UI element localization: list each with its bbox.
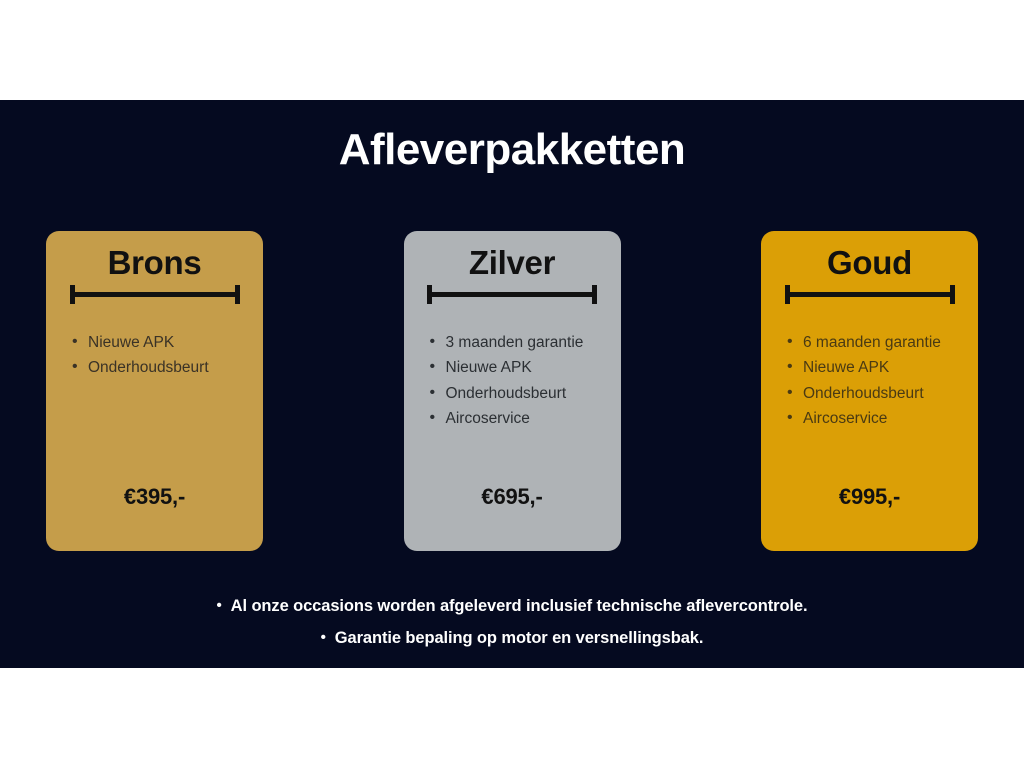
package-title-zilver: Zilver (404, 245, 621, 282)
package-price-zilver: €695,- (404, 484, 621, 551)
list-item: Onderhoudsbeurt (72, 355, 263, 381)
feature-list-brons: Nieuwe APK Onderhoudsbeurt (46, 330, 263, 484)
footer-note-1-text: Al onze occasions worden afgeleverd incl… (231, 597, 808, 615)
pricing-slide: Afleverpakketten Brons Nieuwe APK Onderh… (0, 0, 1024, 768)
package-price-goud: €995,- (761, 484, 978, 551)
list-item: Nieuwe APK (72, 330, 263, 356)
package-card-goud[interactable]: Goud 6 maanden garantie Nieuwe APK Onder… (761, 231, 978, 551)
package-card-zilver[interactable]: Zilver 3 maanden garantie Nieuwe APK Ond… (404, 231, 621, 551)
footer-note-2: •Garantie bepaling op motor en versnelli… (0, 622, 1024, 654)
list-item: Onderhoudsbeurt (430, 381, 621, 407)
feature-list-goud: 6 maanden garantie Nieuwe APK Onderhouds… (761, 330, 978, 484)
list-item: Nieuwe APK (430, 355, 621, 381)
package-card-list: Brons Nieuwe APK Onderhoudsbeurt €395,- … (46, 231, 978, 551)
list-item: Onderhoudsbeurt (787, 381, 978, 407)
title-divider-icon (785, 285, 955, 303)
bullet-icon: • (321, 622, 326, 653)
footer-note-1: •Al onze occasions worden afgeleverd inc… (0, 590, 1024, 622)
list-item: Nieuwe APK (787, 355, 978, 381)
list-item: Aircoservice (787, 406, 978, 432)
page-title: Afleverpakketten (0, 128, 1024, 172)
package-title-goud: Goud (761, 245, 978, 282)
package-card-brons[interactable]: Brons Nieuwe APK Onderhoudsbeurt €395,- (46, 231, 263, 551)
list-item: Aircoservice (430, 406, 621, 432)
package-price-brons: €395,- (46, 484, 263, 551)
feature-list-zilver: 3 maanden garantie Nieuwe APK Onderhouds… (404, 330, 621, 484)
title-divider-icon (70, 285, 240, 303)
package-title-brons: Brons (46, 245, 263, 282)
list-item: 3 maanden garantie (430, 330, 621, 356)
footer-note-2-text: Garantie bepaling op motor en versnellin… (335, 629, 704, 647)
title-divider-icon (427, 285, 597, 303)
list-item: 6 maanden garantie (787, 330, 978, 356)
bullet-icon: • (217, 590, 222, 621)
footer-notes: •Al onze occasions worden afgeleverd inc… (0, 590, 1024, 654)
